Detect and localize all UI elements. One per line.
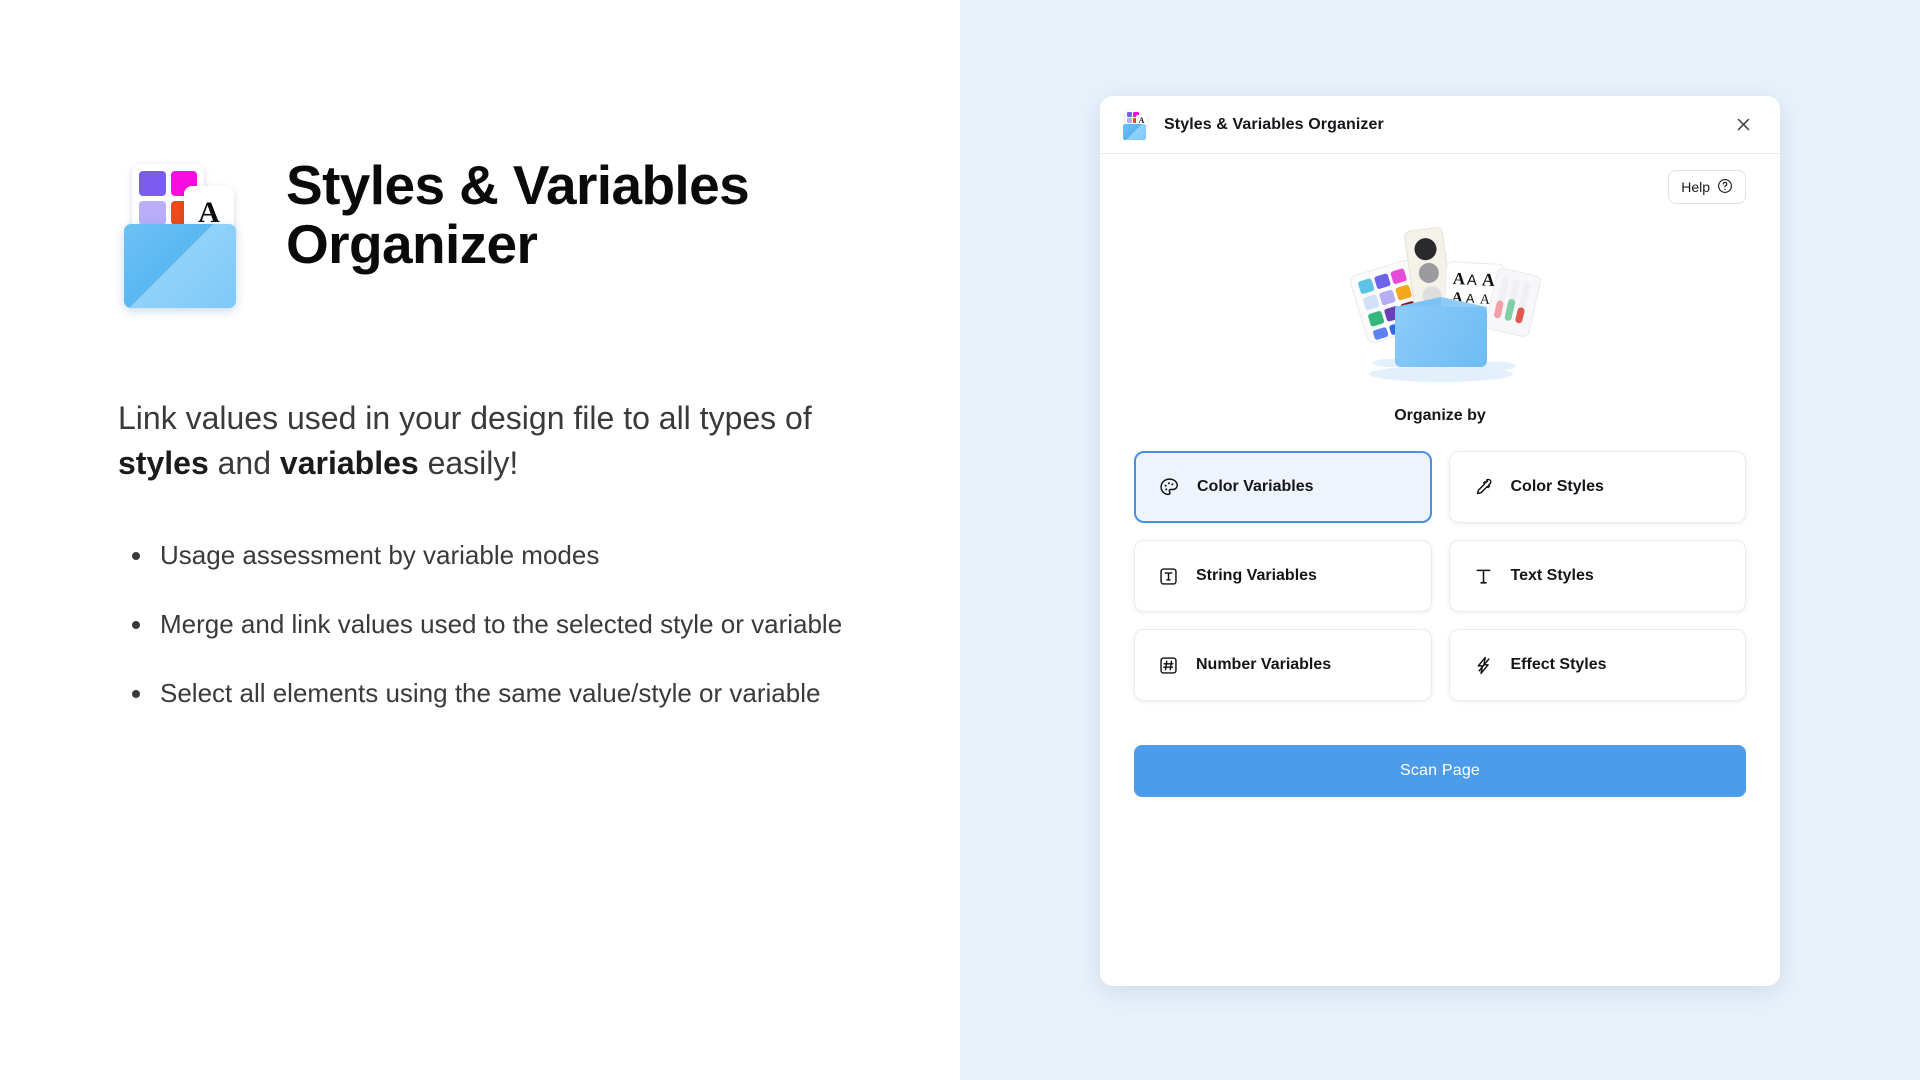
page-title: Styles & Variables Organizer	[286, 156, 806, 274]
organize-by-label: Organize by	[1134, 407, 1746, 425]
option-string-variables[interactable]: String Variables	[1134, 540, 1432, 612]
eyedropper-icon	[1472, 476, 1495, 499]
option-number-variables[interactable]: Number Variables	[1134, 629, 1432, 701]
option-label: Color Variables	[1197, 478, 1314, 496]
option-effect-styles[interactable]: Effect Styles	[1449, 629, 1747, 701]
text-box-icon	[1157, 565, 1180, 588]
promo-page: A Styles & Variables Organizer Link valu…	[0, 0, 1920, 1080]
close-icon[interactable]	[1728, 110, 1758, 140]
option-label: String Variables	[1196, 567, 1317, 585]
svg-text:A: A	[1452, 268, 1466, 288]
scan-page-button[interactable]: Scan Page	[1134, 745, 1746, 797]
option-label: Color Styles	[1511, 478, 1604, 496]
swatch-3	[139, 201, 166, 226]
dialog-body: Help	[1100, 154, 1780, 986]
dialog-title: Styles & Variables Organizer	[1164, 116, 1384, 134]
option-label: Number Variables	[1196, 656, 1331, 674]
lede-part-3: easily!	[419, 445, 519, 481]
illustration-svg: A A A A A A A A	[1333, 211, 1548, 391]
svg-text:A: A	[1466, 271, 1477, 289]
dialog-header: A Styles & Variables Organizer	[1100, 96, 1780, 154]
list-item: Merge and link values used to the select…	[118, 606, 858, 643]
lede-part-2: and	[209, 445, 280, 481]
lede-paragraph: Link values used in your design file to …	[118, 396, 848, 487]
hash-box-icon	[1157, 654, 1180, 677]
text-t-icon	[1472, 565, 1495, 588]
organize-options-grid: Color Variables Color Styles	[1134, 451, 1746, 701]
option-color-variables[interactable]: Color Variables	[1134, 451, 1432, 523]
preview-pane: A Styles & Variables Organizer Help	[960, 0, 1920, 1080]
lightning-icon	[1472, 654, 1495, 677]
palette-icon	[1158, 476, 1181, 499]
marketing-pane: A Styles & Variables Organizer Link valu…	[0, 0, 960, 1080]
dialog-swatch-3	[1127, 118, 1133, 123]
dialog-swatch-1	[1127, 112, 1133, 117]
help-row: Help	[1134, 170, 1746, 204]
dialog-app-logo-icon: A	[1122, 111, 1148, 139]
blue-box-icon	[124, 224, 236, 308]
option-color-styles[interactable]: Color Styles	[1449, 451, 1747, 523]
list-item: Usage assessment by variable modes	[118, 537, 858, 574]
lede-bold-variables: variables	[280, 445, 419, 481]
help-button-label: Help	[1681, 179, 1710, 195]
swatch-1	[139, 171, 166, 196]
plugin-dialog: A Styles & Variables Organizer Help	[1100, 96, 1780, 986]
styles-box-illustration: A A A A A A A A	[1134, 208, 1746, 393]
lede-bold-styles: styles	[118, 445, 209, 481]
option-label: Effect Styles	[1511, 656, 1607, 674]
styles-variables-logo: A	[118, 162, 242, 312]
option-text-styles[interactable]: Text Styles	[1449, 540, 1747, 612]
dialog-blue-box-icon	[1123, 124, 1146, 140]
list-item: Select all elements using the same value…	[118, 675, 858, 712]
help-button[interactable]: Help	[1668, 170, 1746, 204]
feature-list: Usage assessment by variable modes Merge…	[118, 537, 858, 712]
option-label: Text Styles	[1511, 567, 1594, 585]
svg-text:A: A	[1481, 269, 1495, 290]
lede-part-1: Link values used in your design file to …	[118, 400, 812, 436]
hero-row: A Styles & Variables Organizer	[118, 150, 960, 312]
question-circle-icon	[1717, 178, 1733, 197]
